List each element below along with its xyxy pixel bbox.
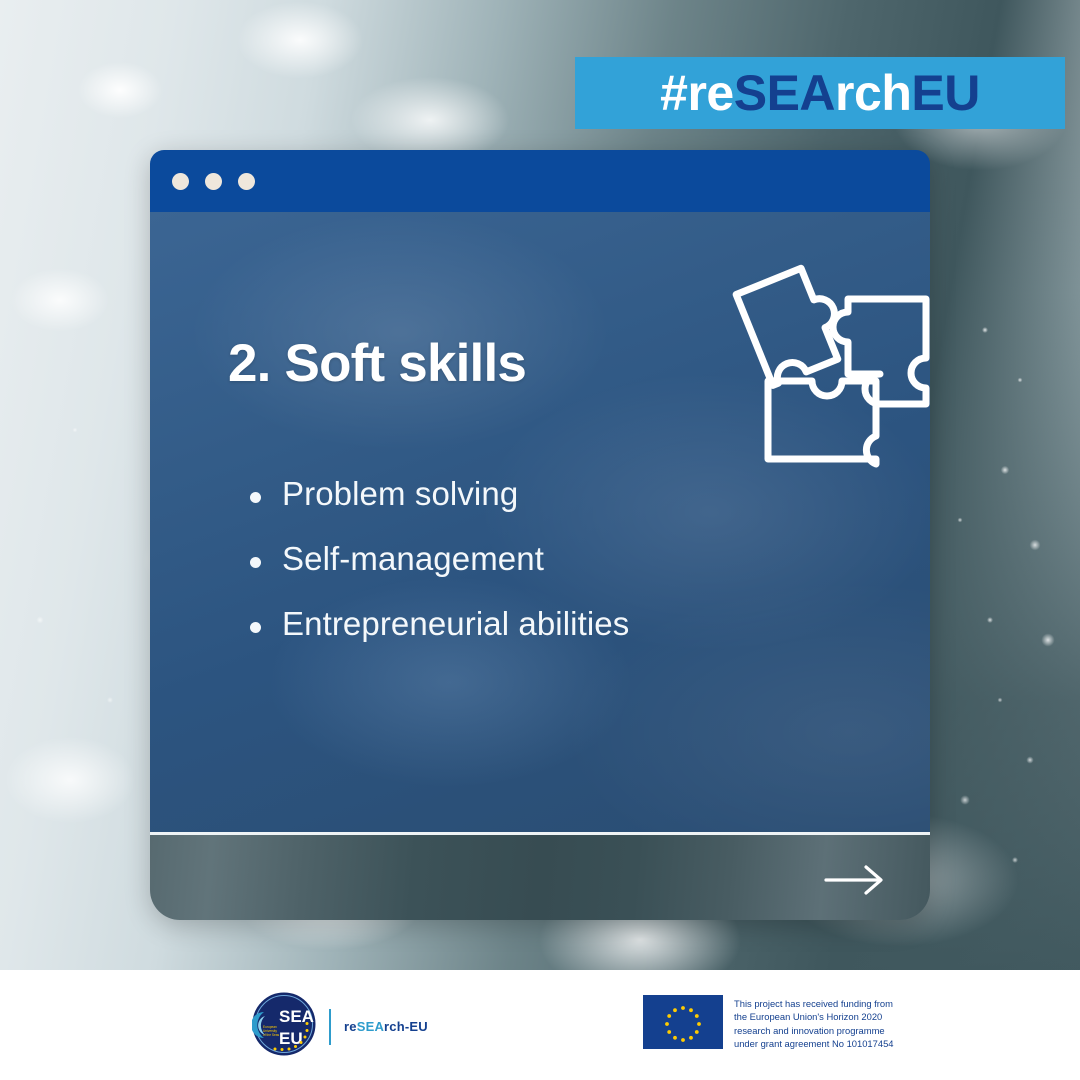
list-item-label: Problem solving [282,475,518,512]
bullet-dot-icon [250,622,261,633]
eu-funding-statement: This project has received funding from t… [734,995,894,1050]
sea-eu-logo-block: SEA EU European University of the Seas r… [252,992,428,1061]
hashtag-segment-2: SEA [734,65,835,121]
skills-list: Problem solvingSelf-managementEntreprene… [242,475,629,670]
list-item: Problem solving [242,475,629,513]
hashtag-banner-text: #reSEArchEU [660,68,980,118]
list-item: Self-management [242,540,629,578]
hashtag-segment-1: #re [660,65,734,121]
hashtag-segment-3: rch [835,65,911,121]
bullet-dot-icon [250,557,261,568]
list-item-label: Entrepreneurial abilities [282,605,629,642]
project-name-label: reSEArch-EU [344,1019,428,1034]
footer: SEA EU European University of the Seas r… [0,970,1080,1080]
page-title: 2. Soft skills [228,333,526,394]
window-dot-minimize-icon[interactable] [205,173,222,190]
sea-eu-circular-logo: SEA EU European University of the Seas [252,992,316,1061]
list-item: Entrepreneurial abilities [242,605,629,643]
bullet-dot-icon [250,492,261,503]
project-name-part-2: SEA [357,1019,384,1034]
list-item-label: Self-management [282,540,544,577]
footer-divider [329,1009,331,1045]
browser-card: 2. Soft skills Problem solvingSelf-manag… [150,150,930,920]
hashtag-banner: #reSEArchEU [575,57,1065,129]
svg-text:SEA: SEA [279,1007,314,1026]
arrow-right-icon[interactable] [824,865,886,900]
puzzle-pieces-icon [730,254,930,474]
card-bottom-bar [150,832,930,920]
window-dot-maximize-icon[interactable] [238,173,255,190]
hashtag-segment-4: EU [911,65,979,121]
browser-titlebar [150,150,930,212]
svg-text:of the Seas: of the Seas [263,1033,280,1037]
svg-text:EU: EU [279,1029,303,1048]
project-name-part-1: re [344,1019,357,1034]
window-dot-close-icon[interactable] [172,173,189,190]
project-name-part-3: rch-EU [384,1019,428,1034]
european-union-flag [643,995,723,1049]
eu-funding-block: This project has received funding from t… [643,995,894,1050]
content-panel: 2. Soft skills Problem solvingSelf-manag… [150,212,930,832]
